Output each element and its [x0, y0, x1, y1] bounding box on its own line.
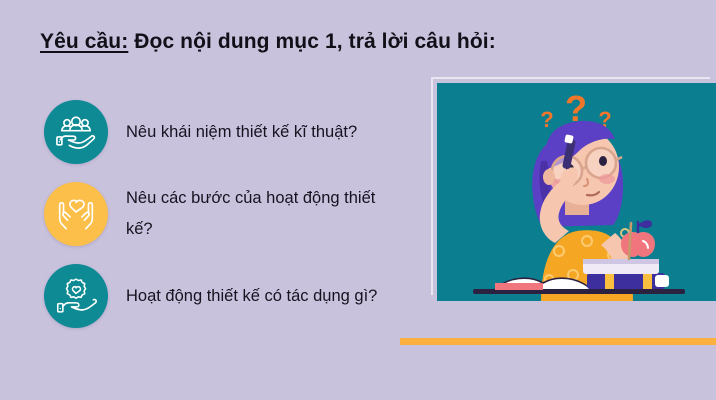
bottom-accent-bar — [400, 338, 716, 345]
list-item-label: Nêu khái niệm thiết kế kĩ thuật? — [126, 117, 357, 148]
question-list: Nêu khái niệm thiết kế kĩ thuật? Nêu các… — [44, 100, 404, 346]
hand-holding-people-icon — [44, 100, 108, 164]
list-item[interactable]: Nêu các bước của hoạt động thiết kế? — [44, 182, 404, 246]
hand-holding-gear-heart-icon — [44, 264, 108, 328]
page-title-prefix: Yêu cầu: — [40, 30, 128, 53]
page-title: Yêu cầu: Đọc nội dung mục 1, trả lời câu… — [40, 30, 496, 54]
svg-text:?: ? — [540, 107, 553, 132]
list-item-label: Hoạt động thiết kế có tác dụng gì? — [126, 281, 377, 312]
hands-holding-heart-icon — [44, 182, 108, 246]
list-item[interactable]: Nêu khái niệm thiết kế kĩ thuật? — [44, 100, 404, 164]
list-item[interactable]: Hoạt động thiết kế có tác dụng gì? — [44, 264, 404, 328]
list-item-label: Nêu các bước của hoạt động thiết kế? — [126, 183, 386, 245]
page-title-rest: Đọc nội dung mục 1, trả lời câu hỏi: — [128, 30, 496, 53]
thinking-student-illustration: ? ? ? — [437, 83, 716, 301]
